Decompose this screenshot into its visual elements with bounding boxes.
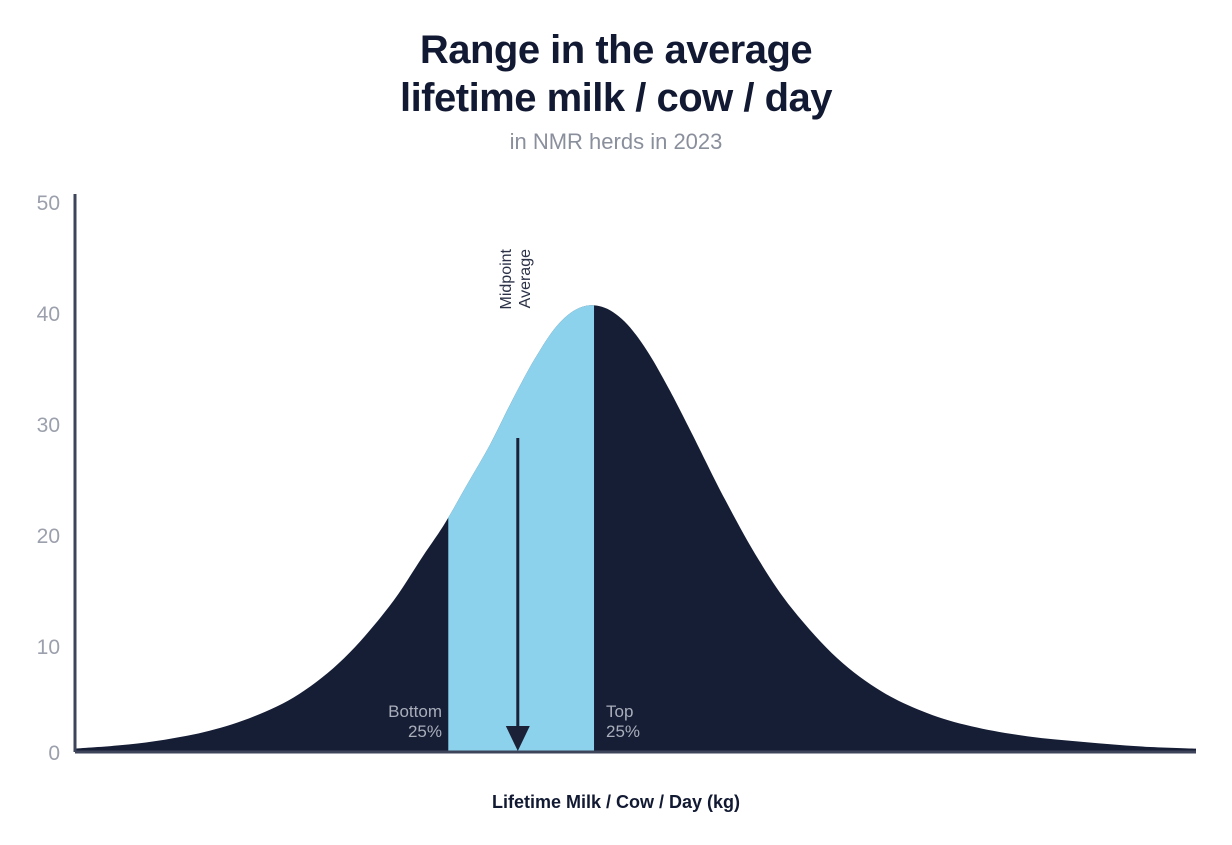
distribution-area: [75, 305, 1196, 752]
y-tick-0: 0: [6, 743, 60, 764]
bottom-quartile-label: Bottom 25%: [388, 702, 442, 742]
chart-figure: Range in the average lifetime milk / cow…: [0, 0, 1232, 845]
y-tick-10: 10: [6, 637, 60, 658]
top-quartile-label: Top 25%: [606, 702, 640, 742]
y-tick-40: 40: [6, 304, 60, 325]
y-tick-50: 50: [6, 193, 60, 214]
x-axis-label: Lifetime Milk / Cow / Day (kg): [0, 792, 1232, 813]
y-tick-30: 30: [6, 415, 60, 436]
y-tick-20: 20: [6, 526, 60, 547]
midpoint-average-label: Midpoint Average: [497, 249, 535, 345]
